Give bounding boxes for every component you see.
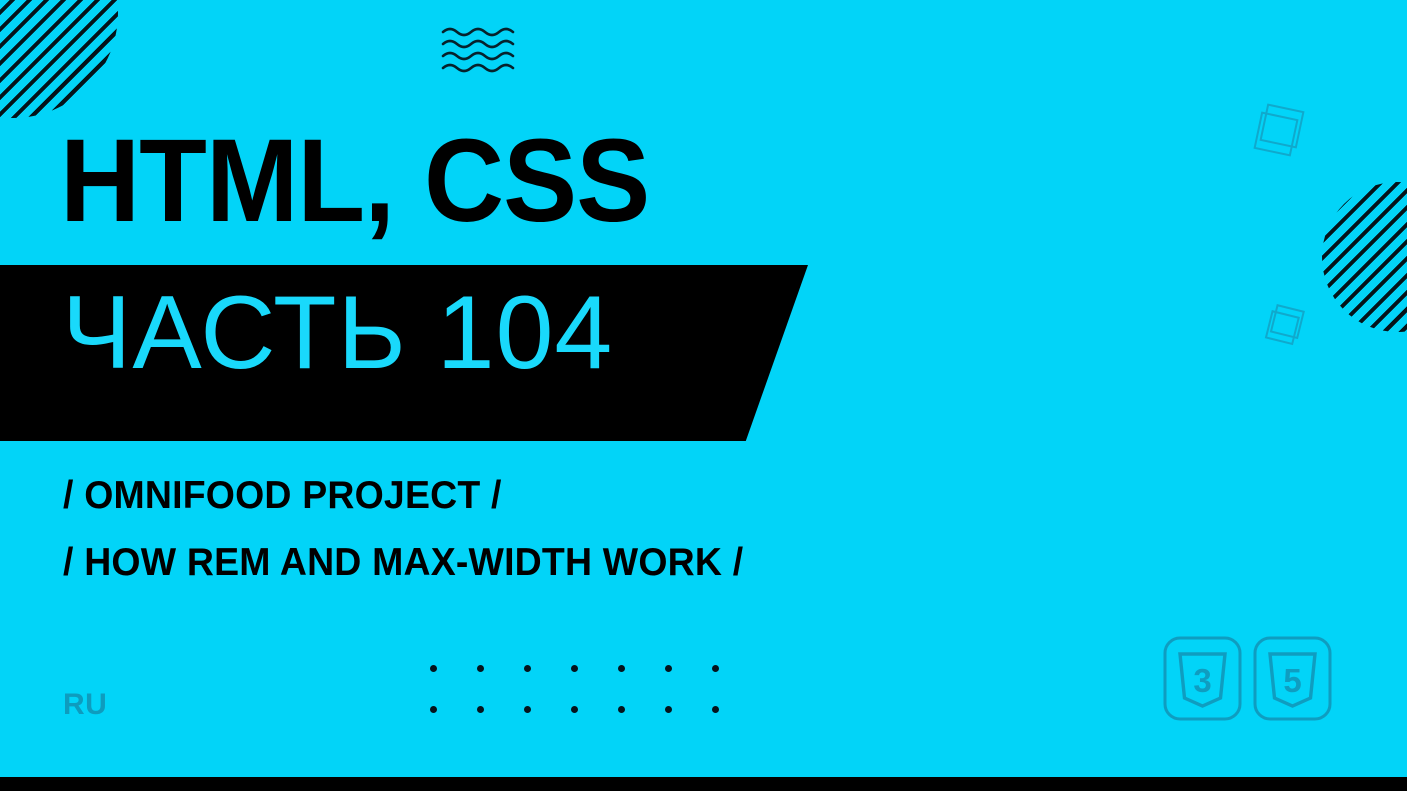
page-title: HTML, CSS xyxy=(60,122,649,240)
language-tag: RU xyxy=(63,688,107,722)
bottom-bar xyxy=(0,777,1407,791)
grid-dot xyxy=(712,665,719,672)
overlapping-squares-icon xyxy=(1250,100,1312,162)
grid-dot xyxy=(665,665,672,672)
subtitle-line-project: / OMNIFOOD PROJECT / xyxy=(63,462,743,529)
grid-dot xyxy=(430,706,437,713)
html5-badge: 5 xyxy=(1253,636,1332,721)
css3-badge: 3 xyxy=(1163,636,1242,721)
subtitle-block: / OMNIFOOD PROJECT / / HOW REM AND MAX-W… xyxy=(63,462,772,596)
grid-dot xyxy=(477,706,484,713)
slide-canvas: HTML, CSS ЧАСТЬ 104 / OMNIFOOD PROJECT /… xyxy=(0,0,1407,791)
subtitle-line-topic: / HOW REM AND MAX-WIDTH WORK / xyxy=(63,529,743,596)
grid-dot xyxy=(524,706,531,713)
grid-dot xyxy=(571,706,578,713)
part-label: ЧАСТЬ 104 xyxy=(62,281,613,385)
grid-dot xyxy=(618,706,625,713)
grid-dot xyxy=(477,665,484,672)
dot-grid xyxy=(430,665,719,747)
wave-lines-icon xyxy=(440,26,522,76)
grid-dot xyxy=(571,665,578,672)
striped-circle-icon xyxy=(1322,182,1407,332)
grid-dot xyxy=(712,706,719,713)
grid-dot xyxy=(665,706,672,713)
dot-grid-row xyxy=(430,706,719,713)
dot-grid-row xyxy=(430,665,719,672)
grid-dot xyxy=(618,665,625,672)
svg-text:3: 3 xyxy=(1193,662,1211,699)
overlapping-squares-icon xyxy=(1262,302,1310,350)
grid-dot xyxy=(524,665,531,672)
tech-badge-group: 3 5 xyxy=(1163,636,1332,721)
grid-dot xyxy=(430,665,437,672)
striped-quarter-circle-icon xyxy=(0,0,118,118)
svg-text:5: 5 xyxy=(1283,662,1301,699)
